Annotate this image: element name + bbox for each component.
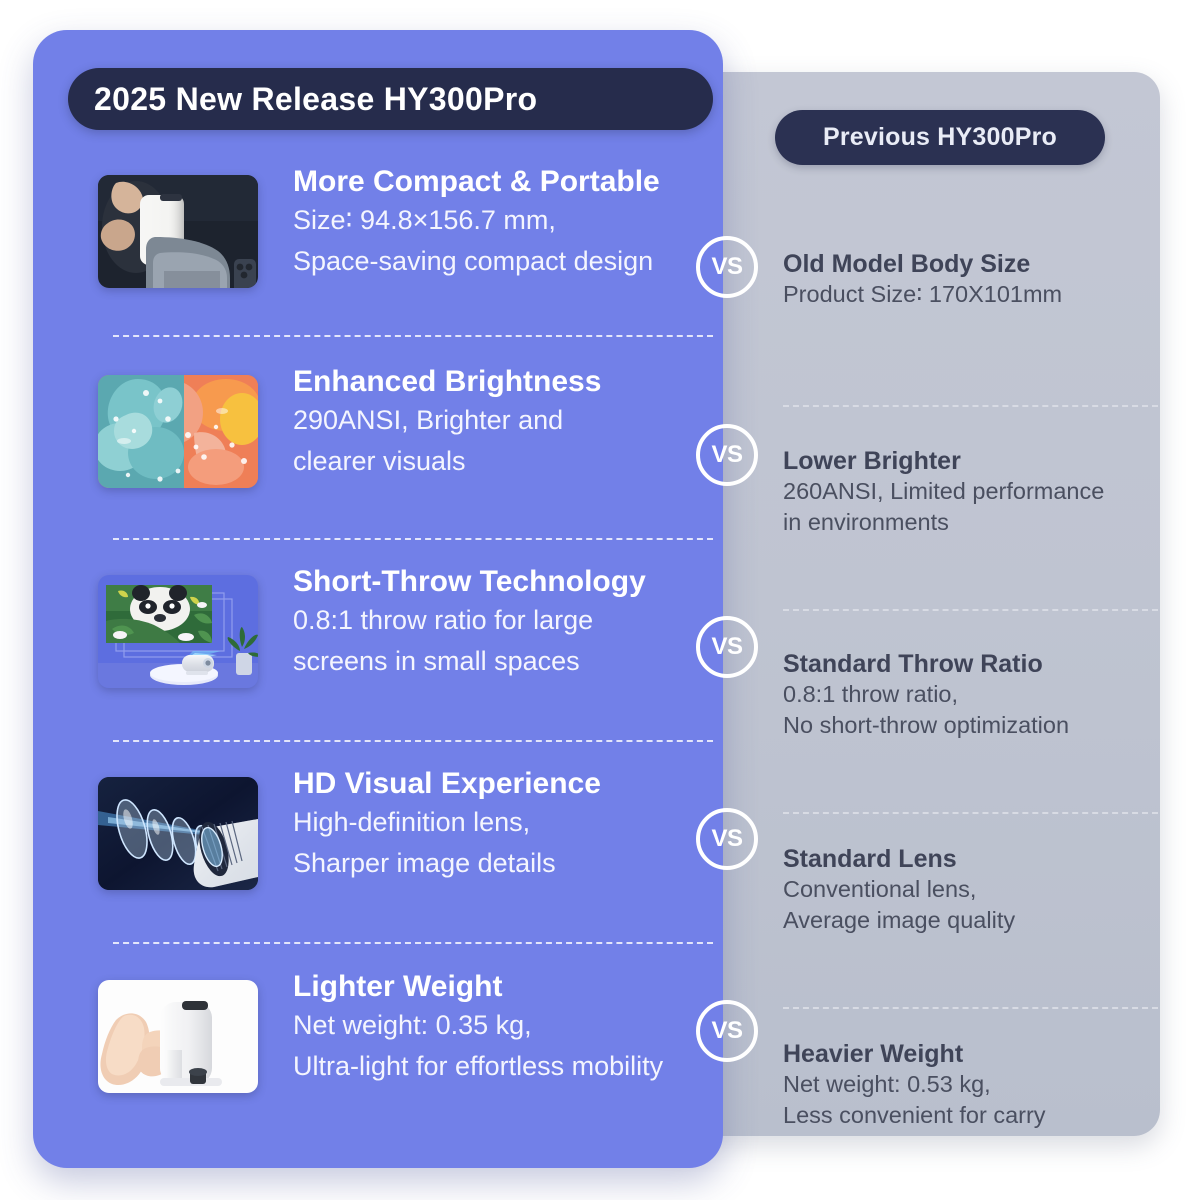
old-feature-line: in environments <box>783 507 1155 538</box>
old-feature-line: Product Size∶ 170X101mm <box>783 279 1155 310</box>
old-feature-row: Old Model Body Size Product Size∶ 170X10… <box>783 250 1155 310</box>
old-divider <box>783 1007 1158 1009</box>
new-feature-line: Size∶ 94.8×156.7 mm, <box>293 200 733 241</box>
vs-badge: VS <box>696 616 758 678</box>
vs-badge-label: VS <box>711 827 742 851</box>
new-feature-title: More Compact & Portable <box>293 164 733 200</box>
vs-badge-label: VS <box>711 443 742 467</box>
vs-badge: VS <box>696 808 758 870</box>
new-feature-line: Net weight: 0.35 kg, <box>293 1005 733 1046</box>
vs-badge-label: VS <box>711 255 742 279</box>
infographic-canvas: Previous HY300Pro Old Model Body Size Pr… <box>0 0 1200 1200</box>
new-feature-text: Short-Throw Technology 0.8:1 throw ratio… <box>293 564 733 682</box>
new-model-panel: 2025 New Release HY300Pro <box>33 30 723 1168</box>
new-divider <box>113 538 713 540</box>
new-feature-line: High-definition lens, <box>293 802 733 843</box>
thumb-hand-holding-projector <box>98 980 258 1093</box>
new-feature-text: Lighter Weight Net weight: 0.35 kg, Ultr… <box>293 969 733 1087</box>
old-feature-line: Conventional lens, <box>783 874 1155 905</box>
new-feature-line: 290ANSI, Brighter and <box>293 400 733 441</box>
new-feature-line: Sharper image details <box>293 843 733 884</box>
old-feature-line: Average image quality <box>783 905 1155 936</box>
new-model-badge-label: 2025 New Release HY300Pro <box>94 81 537 118</box>
new-feature-line: Ultra-light for effortless mobility <box>293 1046 733 1087</box>
new-divider <box>113 335 713 337</box>
thumb-projection-panda <box>98 575 258 688</box>
new-feature-row: HD Visual Experience High-definition len… <box>66 772 726 942</box>
previous-model-badge: Previous HY300Pro <box>775 110 1105 165</box>
new-feature-row: Enhanced Brightness 290ANSI, Brighter an… <box>66 370 726 540</box>
old-feature-line: 0.8:1 throw ratio, <box>783 679 1155 710</box>
new-feature-title: Short-Throw Technology <box>293 564 733 600</box>
vs-badge: VS <box>696 236 758 298</box>
new-feature-line: clearer visuals <box>293 441 733 482</box>
thumb-lens-assembly <box>98 777 258 890</box>
old-feature-line: Net weight: 0.53 kg, <box>783 1069 1155 1100</box>
old-feature-row: Heavier Weight Net weight: 0.53 kg, Less… <box>783 1040 1155 1131</box>
old-feature-title: Old Model Body Size <box>783 250 1155 279</box>
new-feature-title: Lighter Weight <box>293 969 733 1005</box>
new-feature-text: More Compact & Portable Size∶ 94.8×156.7… <box>293 164 733 282</box>
new-feature-line: Space-saving compact design <box>293 241 733 282</box>
new-model-badge: 2025 New Release HY300Pro <box>68 68 713 130</box>
old-feature-line: No short-throw optimization <box>783 710 1155 741</box>
new-feature-row: Short-Throw Technology 0.8:1 throw ratio… <box>66 570 726 740</box>
new-divider <box>113 942 713 944</box>
vs-badge-label: VS <box>711 635 742 659</box>
new-feature-title: HD Visual Experience <box>293 766 733 802</box>
old-feature-title: Lower Brighter <box>783 447 1155 476</box>
old-feature-line: 260ANSI, Limited performance <box>783 476 1155 507</box>
old-feature-title: Standard Throw Ratio <box>783 650 1155 679</box>
previous-model-badge-label: Previous HY300Pro <box>823 123 1057 152</box>
old-divider <box>783 609 1158 611</box>
new-feature-row: More Compact & Portable Size∶ 94.8×156.7… <box>66 170 726 340</box>
new-feature-line: screens in small spaces <box>293 641 733 682</box>
old-feature-row: Standard Throw Ratio 0.8:1 throw ratio, … <box>783 650 1155 741</box>
new-feature-text: Enhanced Brightness 290ANSI, Brighter an… <box>293 364 733 482</box>
old-divider <box>783 812 1158 814</box>
old-divider <box>783 405 1158 407</box>
old-feature-title: Standard Lens <box>783 845 1155 874</box>
new-feature-text: HD Visual Experience High-definition len… <box>293 766 733 884</box>
new-feature-title: Enhanced Brightness <box>293 364 733 400</box>
vs-badge-label: VS <box>711 1019 742 1043</box>
vs-badge: VS <box>696 1000 758 1062</box>
new-feature-line: 0.8:1 throw ratio for large <box>293 600 733 641</box>
old-feature-line: Less convenient for carry <box>783 1100 1155 1131</box>
old-feature-row: Lower Brighter 260ANSI, Limited performa… <box>783 447 1155 538</box>
old-feature-row: Standard Lens Conventional lens, Average… <box>783 845 1155 936</box>
thumb-projector-in-bag <box>98 175 258 288</box>
new-divider <box>113 740 713 742</box>
vs-badge: VS <box>696 424 758 486</box>
old-feature-title: Heavier Weight <box>783 1040 1155 1069</box>
new-feature-row: Lighter Weight Net weight: 0.35 kg, Ultr… <box>66 975 726 1145</box>
thumb-colorful-flowers <box>98 375 258 488</box>
